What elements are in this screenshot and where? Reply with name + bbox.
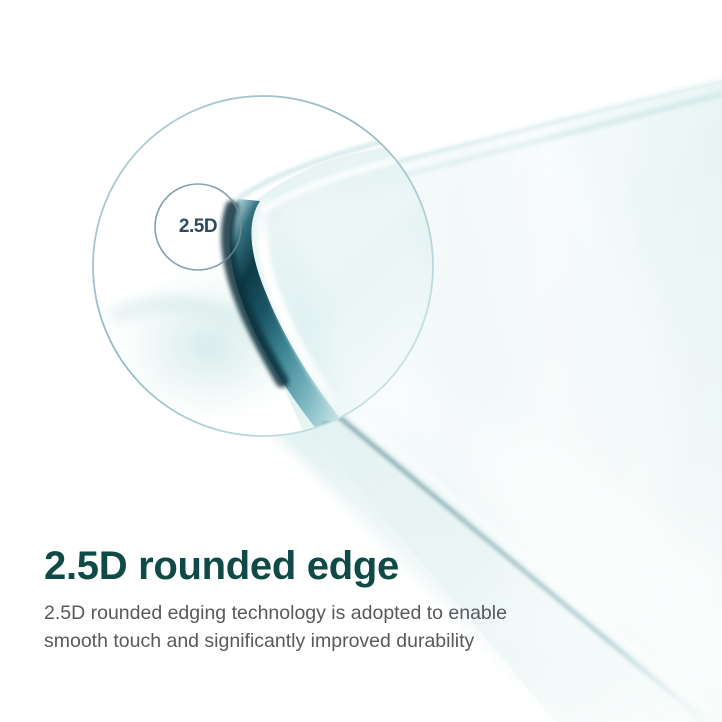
magnifier-loupe: 2.5D (92, 95, 434, 437)
magnifier-svg (92, 95, 434, 437)
product-feature-graphic: 2.5D 2.5D rounded edge 2.5D rounded edgi… (0, 0, 722, 722)
feature-description-line-2: smooth touch and significantly improved … (44, 628, 564, 656)
feature-description: 2.5D rounded edging technology is adopte… (44, 600, 564, 655)
zoom-factor-label: 2.5D (155, 216, 241, 238)
feature-description-line-1: 2.5D rounded edging technology is adopte… (44, 600, 564, 628)
feature-title: 2.5D rounded edge (44, 545, 664, 588)
caption-block: 2.5D rounded edge 2.5D rounded edging te… (44, 545, 664, 656)
zoom-edge-exit (324, 425, 392, 437)
